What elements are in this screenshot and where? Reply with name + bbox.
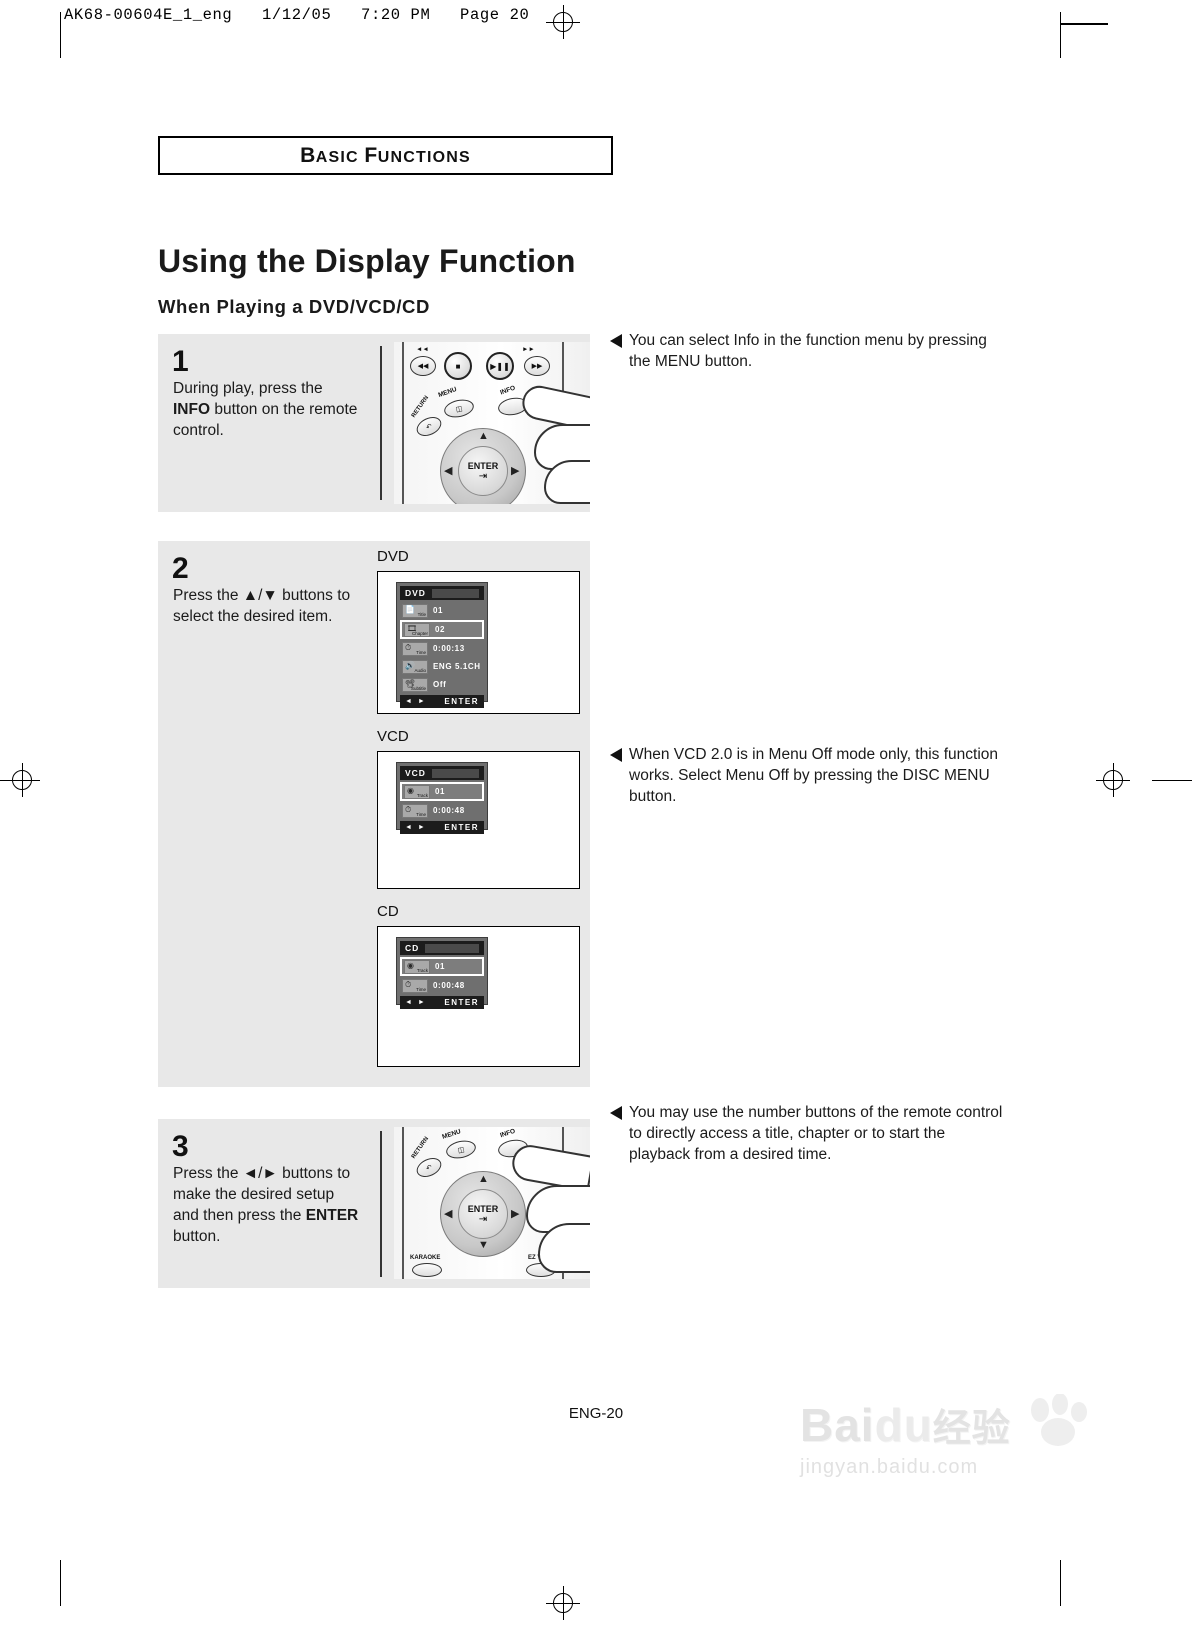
callout-2: When VCD 2.0 is in Menu Off mode only, t… bbox=[610, 744, 1010, 807]
page-title: Using the Display Function bbox=[158, 243, 576, 280]
enter-label-3: ENTER bbox=[468, 1204, 499, 1214]
registration-mark-top bbox=[546, 5, 580, 39]
time-icon: ⏱Time bbox=[402, 804, 428, 818]
osd-footer-enter-cd[interactable]: ENTER bbox=[444, 998, 479, 1007]
osd-title-bar-cd bbox=[425, 944, 479, 953]
karaoke-button[interactable] bbox=[412, 1263, 442, 1277]
osd-title-bar-vcd bbox=[432, 769, 479, 778]
osd-value-title: 01 bbox=[433, 606, 443, 615]
crop-mark-br-v bbox=[1060, 1560, 1061, 1606]
step-1-panel: 1 During play, press the INFO button on … bbox=[158, 334, 590, 512]
page-subtitle: When Playing a DVD/VCD/CD bbox=[158, 296, 430, 318]
osd-frame-cd: CD ◉Track 01 ⏱Time 0:00:48 ◄ ► ENTER bbox=[377, 926, 580, 1067]
dpad-left-icon: ◀ bbox=[444, 464, 452, 477]
osd-row-time-cd[interactable]: ⏱Time 0:00:48 bbox=[400, 977, 484, 994]
callout-1: You can select Info in the function menu… bbox=[610, 330, 1010, 372]
crop-mark-tl-v bbox=[60, 12, 61, 58]
chapter-title-asic: ASIC bbox=[316, 149, 365, 166]
osd-title-cd: CD bbox=[400, 941, 484, 955]
time-icon: ⏱Time bbox=[402, 979, 428, 993]
step-2-number: 2 bbox=[172, 552, 189, 586]
next-button[interactable]: ▶▶ bbox=[524, 356, 550, 376]
step-3-text: Press the ◄/► buttons to make the desire… bbox=[173, 1163, 363, 1247]
osd-footer-vcd: ◄ ► ENTER bbox=[400, 821, 484, 834]
osd-row-track-cd[interactable]: ◉Track 01 bbox=[400, 957, 484, 976]
osd-title-text-dvd: DVD bbox=[405, 588, 426, 598]
chapter-title: BASIC FUNCTIONS bbox=[300, 144, 471, 168]
subtitle-icon: 📽Subtitle bbox=[402, 678, 428, 692]
enter-arrow-icon: ⇥ bbox=[479, 471, 487, 482]
step-3-divider bbox=[380, 1131, 382, 1277]
chapter-title-b: B bbox=[300, 144, 316, 167]
crop-mark-tr-v bbox=[1060, 12, 1061, 58]
osd-value-chapter: 02 bbox=[435, 625, 445, 634]
osd-screen-cd: CD ◉Track 01 ⏱Time 0:00:48 ◄ ► ENTER bbox=[396, 937, 488, 1005]
registration-mark-bottom bbox=[546, 1586, 580, 1620]
callout-3: You may use the number buttons of the re… bbox=[610, 1102, 1010, 1165]
watermark-cn: 经验 bbox=[933, 1408, 1011, 1450]
osd-title-text-cd: CD bbox=[405, 943, 419, 953]
callout-arrow-icon-3 bbox=[610, 1106, 622, 1120]
crop-mark-right-h bbox=[1152, 780, 1192, 781]
step-1-text-a: During play, press the bbox=[173, 380, 323, 397]
chapter-title-f: F bbox=[364, 144, 377, 167]
osd-frame-dvd: DVD 📄Title 01 🎞Chapter 02 ⏱Time 0:00:13 … bbox=[377, 571, 580, 714]
stop-button[interactable]: ■ bbox=[444, 352, 472, 380]
step-1-text: During play, press the INFO button on th… bbox=[173, 378, 363, 441]
paw-icon bbox=[1024, 1394, 1094, 1450]
prev-button[interactable]: ◀◀ bbox=[410, 356, 436, 376]
file-header-text: AK68-00604E_1_eng 1/12/05 7:20 PM Page 2… bbox=[64, 6, 529, 24]
osd-row-chapter[interactable]: 🎞Chapter 02 bbox=[400, 620, 484, 639]
remote-illustration-step3: MENU ◫ INFO RETURN ↶ ENTER ⇥ ▲ ◀ ▶ ▼ KAR… bbox=[394, 1127, 590, 1279]
dpad-down-icon-3: ▼ bbox=[478, 1239, 489, 1251]
osd-value-time-vcd: 0:00:48 bbox=[433, 806, 465, 815]
dpad-right-icon-3: ▶ bbox=[511, 1207, 519, 1220]
callout-text-1: You can select Info in the function menu… bbox=[629, 330, 1010, 372]
osd-footer-arrows-cd: ◄ ► bbox=[405, 999, 427, 1006]
karaoke-label: KARAOKE bbox=[410, 1255, 440, 1261]
step-1-number: 1 bbox=[172, 345, 189, 379]
osd-row-track-vcd[interactable]: ◉Track 01 bbox=[400, 782, 484, 801]
callout-arrow-icon-2 bbox=[610, 748, 622, 762]
registration-mark-right bbox=[1096, 763, 1130, 797]
registration-mark-left bbox=[5, 763, 39, 797]
watermark-bai: Bai bbox=[800, 1399, 875, 1451]
enter-label: ENTER bbox=[468, 461, 499, 471]
title-icon: 📄Title bbox=[402, 604, 428, 618]
osd-value-time: 0:00:13 bbox=[433, 644, 465, 653]
dpad-right-icon: ▶ bbox=[511, 464, 519, 477]
step-3-text-bold: ENTER bbox=[306, 1207, 359, 1224]
chapter-icon: 🎞Chapter bbox=[404, 623, 430, 637]
step-3-panel: 3 Press the ◄/► buttons to make the desi… bbox=[158, 1119, 590, 1288]
osd-value-subtitle: Off bbox=[433, 680, 446, 689]
manual-page: AK68-00604E_1_eng 1/12/05 7:20 PM Page 2… bbox=[0, 0, 1192, 1635]
track-icon: ◉Track bbox=[404, 960, 430, 974]
enter-arrow-icon-3: ⇥ bbox=[479, 1214, 487, 1225]
osd-value-time-cd: 0:00:48 bbox=[433, 981, 465, 990]
osd-label-vcd: VCD bbox=[377, 728, 409, 745]
osd-screen-vcd: VCD ◉Track 01 ⏱Time 0:00:48 ◄ ► ENTER bbox=[396, 762, 488, 830]
watermark-du: du bbox=[875, 1399, 933, 1451]
osd-value-audio: ENG 5.1CH bbox=[433, 662, 481, 671]
chapter-title-box: BASIC FUNCTIONS bbox=[158, 136, 613, 175]
step-2-text: Press the ▲/▼ buttons to select the desi… bbox=[173, 585, 363, 627]
osd-row-audio[interactable]: 🔊Audio ENG 5.1CH bbox=[400, 658, 484, 675]
remote-illustration-step1: ◄◄ ►► ◀◀ ■ ▶❚❚ ▶▶ MENU ◫ INFO RETURN bbox=[394, 342, 590, 504]
osd-screen-dvd: DVD 📄Title 01 🎞Chapter 02 ⏱Time 0:00:13 … bbox=[396, 582, 488, 702]
osd-footer-arrows-vcd: ◄ ► bbox=[405, 824, 427, 831]
header-rule bbox=[1060, 23, 1108, 25]
track-icon: ◉Track bbox=[404, 785, 430, 799]
dpad-up-icon-3: ▲ bbox=[478, 1173, 489, 1185]
fast-forward-icon: ►► bbox=[522, 346, 535, 353]
osd-title-text-vcd: VCD bbox=[405, 768, 426, 778]
dpad-left-icon-3: ◀ bbox=[444, 1207, 452, 1220]
osd-footer-arrows-dvd: ◄ ► bbox=[405, 698, 427, 705]
step-1-text-bold: INFO bbox=[173, 401, 210, 418]
osd-row-time-vcd[interactable]: ⏱Time 0:00:48 bbox=[400, 802, 484, 819]
osd-label-cd: CD bbox=[377, 903, 399, 920]
osd-row-subtitle[interactable]: 📽Subtitle Off bbox=[400, 676, 484, 693]
callout-text-2: When VCD 2.0 is in Menu Off mode only, t… bbox=[629, 744, 1010, 807]
watermark-line2: jingyan.baidu.com bbox=[800, 1456, 1100, 1479]
osd-value-track-cd: 01 bbox=[435, 962, 445, 971]
osd-value-track-vcd: 01 bbox=[435, 787, 445, 796]
step-1-divider bbox=[380, 346, 382, 500]
osd-title-vcd: VCD bbox=[400, 766, 484, 780]
osd-footer-enter-dvd[interactable]: ENTER bbox=[444, 697, 479, 706]
osd-title-dvd: DVD bbox=[400, 586, 484, 600]
chapter-title-unctions: UNCTIONS bbox=[378, 149, 471, 166]
osd-footer-dvd: ◄ ► ENTER bbox=[400, 695, 484, 708]
step-3-number: 3 bbox=[172, 1130, 189, 1164]
dpad-up-icon: ▲ bbox=[478, 430, 489, 442]
osd-row-time[interactable]: ⏱Time 0:00:13 bbox=[400, 640, 484, 657]
osd-title-bar-dvd bbox=[432, 589, 479, 598]
callout-text-3: You may use the number buttons of the re… bbox=[629, 1102, 1010, 1165]
osd-footer-cd: ◄ ► ENTER bbox=[400, 996, 484, 1009]
osd-label-dvd: DVD bbox=[377, 548, 409, 565]
osd-row-title[interactable]: 📄Title 01 bbox=[400, 602, 484, 619]
enter-button[interactable]: ENTER ⇥ bbox=[458, 446, 508, 496]
enter-button-3[interactable]: ENTER ⇥ bbox=[458, 1189, 508, 1239]
play-pause-button[interactable]: ▶❚❚ bbox=[486, 352, 514, 380]
time-icon: ⏱Time bbox=[402, 642, 428, 656]
watermark: Baidu经验 jingyan.baidu.com bbox=[800, 1400, 1100, 1530]
audio-icon: 🔊Audio bbox=[402, 660, 428, 674]
rewind-icon: ◄◄ bbox=[416, 346, 429, 353]
osd-footer-enter-vcd[interactable]: ENTER bbox=[444, 823, 479, 832]
step-3-text-b: button. bbox=[173, 1228, 220, 1245]
osd-frame-vcd: VCD ◉Track 01 ⏱Time 0:00:48 ◄ ► ENTER bbox=[377, 751, 580, 889]
callout-arrow-icon-1 bbox=[610, 334, 622, 348]
crop-mark-bl-v bbox=[60, 1560, 61, 1606]
